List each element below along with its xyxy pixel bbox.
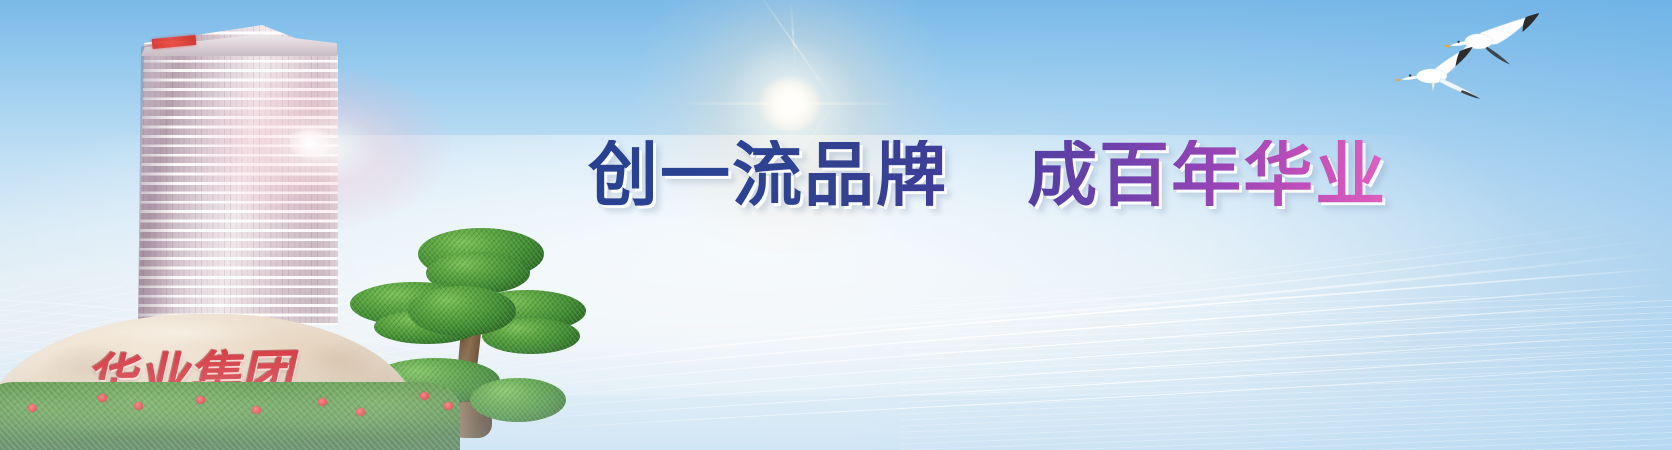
corporate-hero-banner: 华业集团 创一流品牌 成百年华业: [0, 0, 1672, 450]
bonsai-canopy-texture: [408, 286, 516, 336]
slogan-text: 创一流品牌 成百年华业: [588, 140, 1387, 210]
building-left-shaded-face: [138, 41, 176, 325]
bonsai-canopy-centre: [408, 286, 516, 336]
slogan-container: 创一流品牌 成百年华业: [588, 127, 1368, 223]
seagull-icon-lower: [1394, 47, 1480, 99]
bottom-haze-overlay: [0, 340, 1672, 450]
seagull-group: [1368, 6, 1668, 126]
high-rise-building: [138, 25, 338, 325]
